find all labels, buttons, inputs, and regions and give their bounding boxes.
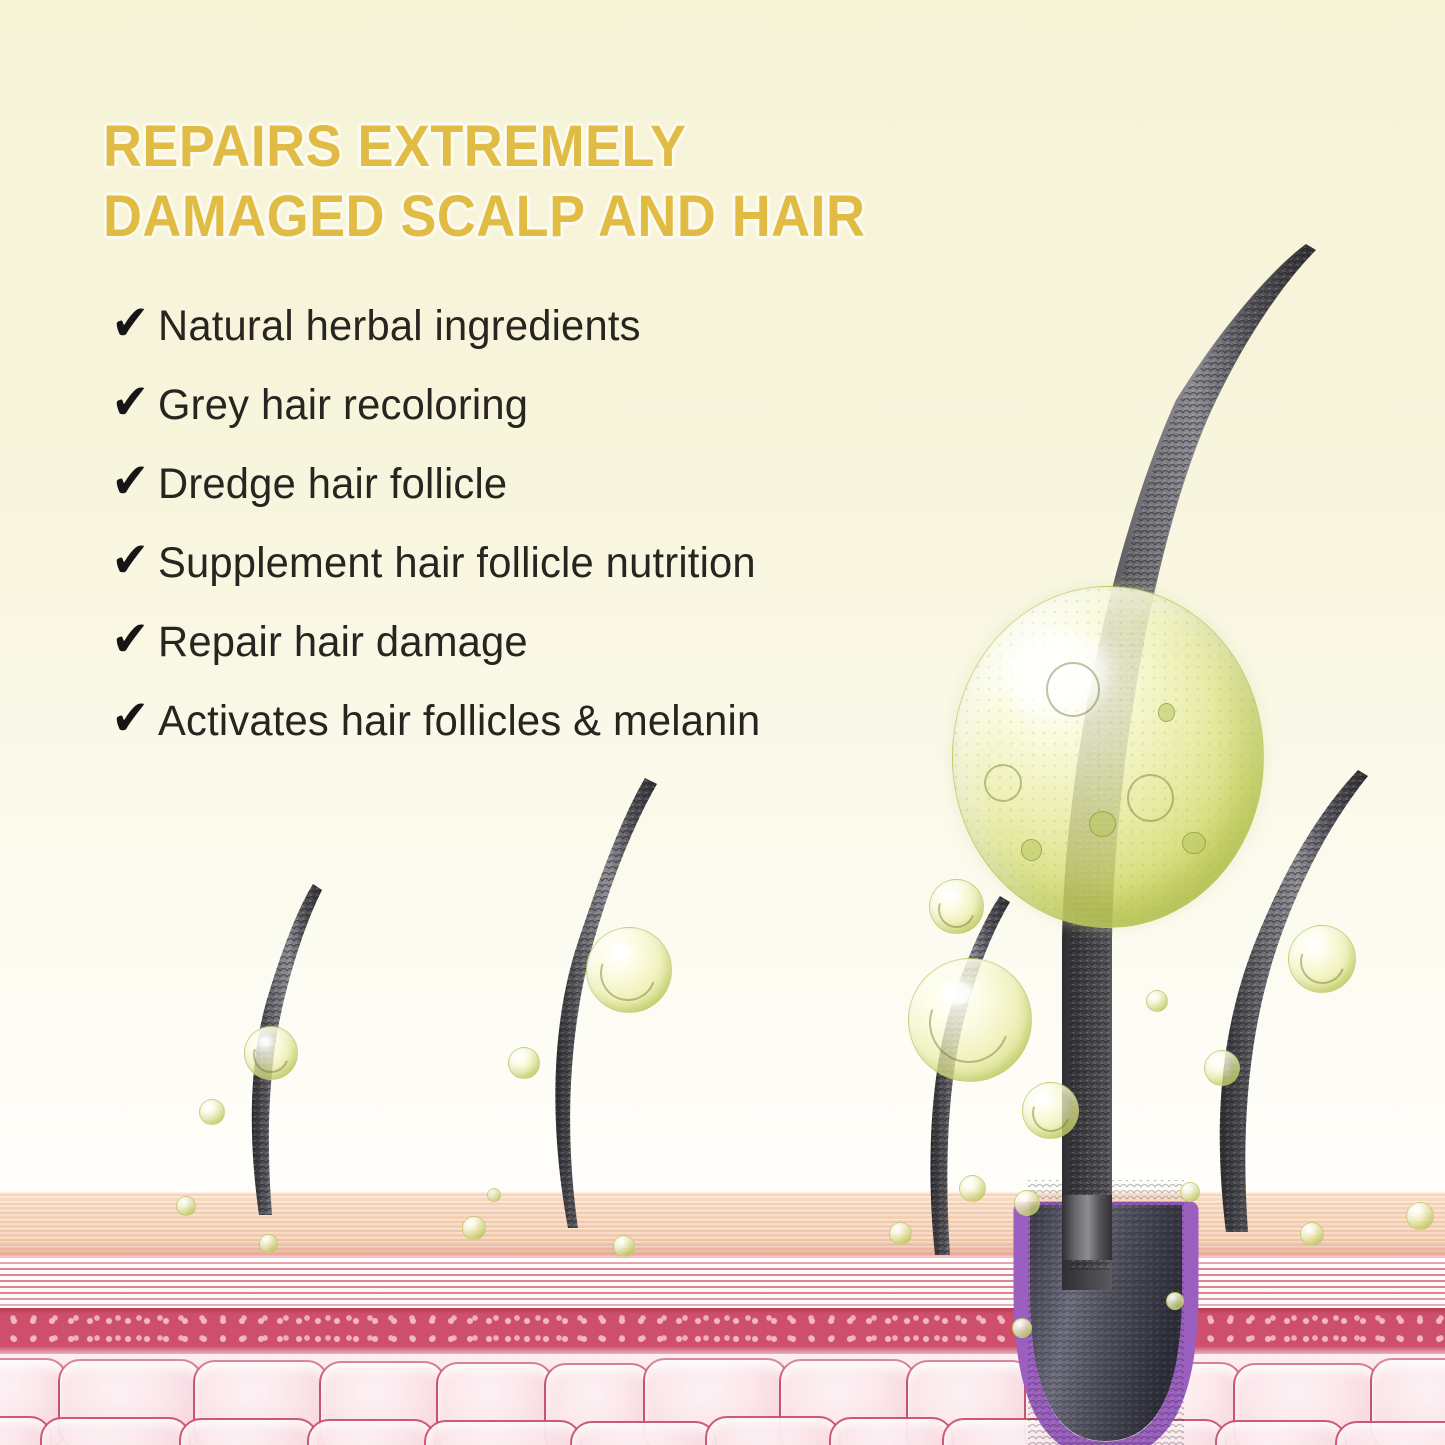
oil-bubble [1288, 925, 1356, 993]
oil-bubble [929, 879, 984, 934]
page-title: REPAIRS EXTREMELY DAMAGED SCALP AND HAIR [103, 112, 921, 252]
benefit-label: Dredge hair follicle [158, 461, 507, 508]
oil-bubble [613, 1235, 635, 1257]
benefit-label: Repair hair damage [158, 619, 528, 666]
benefit-label: Activates hair follicles & melanin [158, 698, 760, 745]
benefit-label: Supplement hair follicle nutrition [158, 540, 756, 587]
oil-bubble [959, 1175, 986, 1202]
list-item: ✔ Dredge hair follicle [112, 445, 1012, 524]
cellular-band-top-shade [0, 1308, 1445, 1314]
cellular-band-bottom-shade [0, 1346, 1445, 1354]
skin-layer-dermis [0, 1256, 1445, 1308]
fat-cell [942, 1418, 1096, 1445]
oil-bubble-medium [908, 958, 1032, 1082]
oil-bubble [1204, 1050, 1240, 1086]
oil-bubble [1146, 990, 1168, 1012]
infographic-canvas: REPAIRS EXTREMELY DAMAGED SCALP AND HAIR… [0, 0, 1445, 1445]
list-item: ✔ Repair hair damage [112, 603, 1012, 682]
skin-layer-subcutaneous-fat [0, 1354, 1445, 1445]
oil-bubble [1300, 1222, 1324, 1246]
checkmark-icon: ✔ [112, 694, 159, 743]
droplet-minibubble [1182, 832, 1206, 854]
droplet-minibubble [1158, 703, 1176, 722]
oil-bubble [586, 927, 672, 1013]
benefit-label: Natural herbal ingredients [158, 303, 641, 350]
skin-layer-epidermis [0, 1192, 1445, 1256]
droplet-inner-ring [1046, 662, 1100, 717]
checkmark-icon: ✔ [112, 457, 159, 506]
list-item: ✔ Grey hair recoloring [112, 366, 1012, 445]
list-item: ✔ Supplement hair follicle nutrition [112, 524, 1012, 603]
oil-bubble [259, 1234, 278, 1253]
fat-cell [307, 1419, 436, 1445]
fat-cell [1335, 1421, 1445, 1445]
oil-bubble [1406, 1202, 1434, 1230]
list-item: ✔ Natural herbal ingredients [112, 287, 1012, 366]
oil-bubble [176, 1196, 196, 1216]
fat-cell [705, 1416, 841, 1445]
benefits-list: ✔ Natural herbal ingredients ✔ Grey hair… [112, 287, 1012, 761]
droplet-inner-ring [1127, 774, 1174, 822]
fat-cell [829, 1417, 954, 1445]
fat-cell [1215, 1420, 1347, 1445]
dermis-fade [0, 1256, 1445, 1308]
oil-bubble [1022, 1082, 1079, 1139]
oil-bubble [889, 1222, 912, 1245]
oil-bubble [508, 1047, 540, 1079]
oil-bubble [1012, 1318, 1032, 1338]
fat-cell [424, 1420, 582, 1445]
droplet-inner-ring [984, 764, 1022, 802]
oil-bubble [199, 1099, 225, 1125]
oil-bubble [244, 1026, 298, 1080]
list-item: ✔ Activates hair follicles & melanin [112, 682, 1012, 761]
oil-bubble [487, 1188, 501, 1202]
epidermis-shadow [0, 1240, 1445, 1256]
fat-cell [179, 1418, 319, 1445]
benefit-label: Grey hair recoloring [158, 382, 528, 429]
fat-cell [40, 1417, 191, 1445]
oil-bubble [462, 1216, 486, 1240]
checkmark-icon: ✔ [112, 378, 159, 427]
oil-bubble [1166, 1292, 1184, 1310]
fat-cell [570, 1421, 717, 1445]
skin-layer-cellular-band [0, 1308, 1445, 1354]
checkmark-icon: ✔ [112, 615, 159, 664]
oil-bubble [1180, 1182, 1200, 1202]
checkmark-icon: ✔ [112, 536, 159, 585]
checkmark-icon: ✔ [112, 299, 159, 348]
droplet-minibubble [1021, 839, 1042, 861]
oil-bubble [1014, 1190, 1040, 1216]
fat-cell [1084, 1419, 1227, 1445]
